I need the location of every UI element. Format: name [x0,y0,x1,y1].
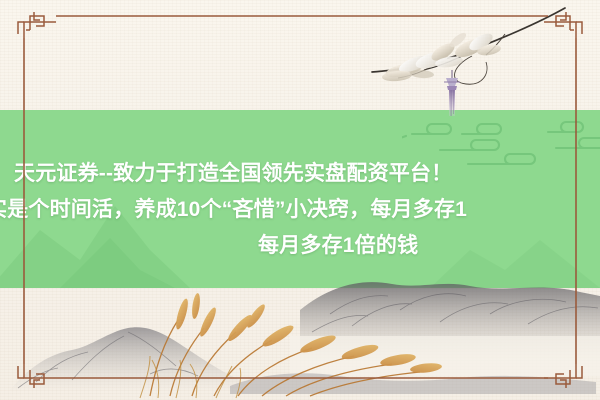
headline-line-1: 天元证券--致力于打造全国领先实盘配资平台！ [14,156,452,192]
headline-text-block: 天元证券--致力于打造全国领先实盘配资平台！ 实是个时间活，养成10个“吝惜”小… [0,110,600,288]
corner-fret-top-left [18,12,56,38]
headline-line-3: 每月多存1倍的钱 [258,228,418,264]
headline-line-2: 实是个时间活，养成10个“吝惜”小决窍，每月多存1 [0,192,467,228]
magnolia-branch-illustration [0,0,600,118]
ink-landscape-illustration [0,270,600,400]
corner-fret-top-right [544,12,582,38]
corner-fret-bottom-right [544,364,582,388]
corner-fret-bottom-left [18,364,56,388]
banner-canvas: 天元证券--致力于打造全国领先实盘配资平台！ 实是个时间活，养成10个“吝惜”小… [0,0,600,400]
